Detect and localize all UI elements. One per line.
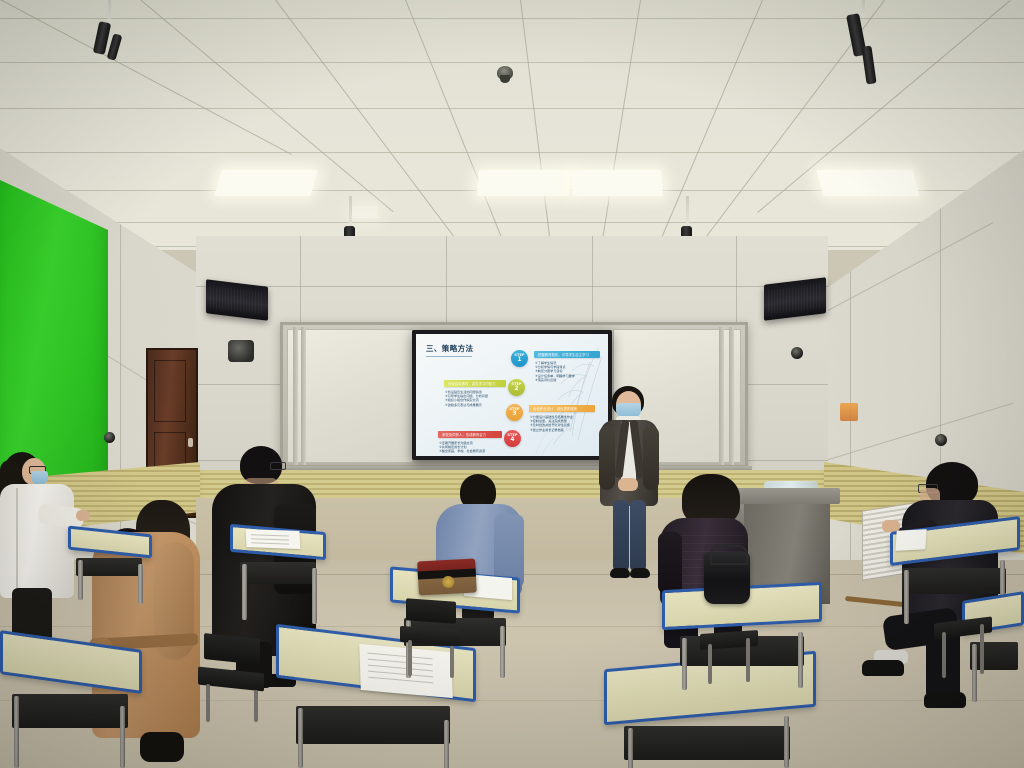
glasses-icon — [270, 462, 286, 470]
dome-camera-icon — [497, 66, 513, 80]
wall-notice-sticker — [840, 403, 858, 421]
ceiling — [0, 0, 1024, 250]
desk-top — [0, 630, 142, 694]
ceiling-mount-rod — [862, 0, 865, 18]
slide-step-2-body: ①创设贴近生活的问题情境 ②引导学生提出问题、分析问题 ③组织小组合作探究交流 … — [445, 390, 507, 407]
slide-step-1-body: ①了解学生情况 ②分析学情与学段特点 ③制定分层学习目标 ④设计任务单，明确学习… — [535, 361, 599, 382]
ptz-camera-left — [228, 340, 254, 362]
slide-step-4-badge: STEP4 — [504, 430, 521, 447]
chair[interactable] — [934, 602, 996, 688]
ceiling-light-panel — [214, 170, 317, 196]
chair[interactable] — [196, 636, 266, 722]
handout-paper[interactable] — [895, 529, 926, 551]
slide-step-1-banner: 把握教育契机，引导学生自主学习 — [534, 351, 600, 358]
slide-step-1-badge: STEP1 — [511, 350, 528, 367]
desk[interactable] — [68, 530, 152, 600]
wall-camera-right-lower — [935, 434, 947, 446]
handbag-black[interactable] — [704, 552, 750, 604]
wall-camera-right — [791, 347, 803, 359]
slide-title: 三、策略方法 — [426, 343, 473, 354]
slide-step-3-body: ①分层设计基础性与拓展性作业 ②控制总量，关注完成质量 ③及时批改并给予针对性反… — [530, 415, 594, 432]
classroom-photo: 三、策略方法 STEP1 把握教育契机，引导学生自主学习 ①了解学生情况 ②分析… — [0, 0, 1024, 768]
slide-step-3-banner: 优化作业设计，减负提质增效 — [529, 405, 595, 412]
handbag-red[interactable] — [417, 559, 477, 596]
desk-top — [68, 526, 152, 559]
slide-step-2-banner: 创设真实情境，激发学习内驱力 — [444, 380, 506, 387]
chair[interactable] — [400, 600, 462, 678]
wall-camera-left — [104, 432, 115, 443]
ceiling-light-panel — [571, 170, 663, 196]
interactive-display[interactable]: 三、策略方法 STEP1 把握教育契机，引导学生自主学习 ①了解学生情况 ②分析… — [412, 330, 612, 460]
bag-handle — [710, 545, 748, 565]
wall-speaker-right — [764, 277, 826, 321]
presentation-slide: 三、策略方法 STEP1 把握教育契机，引导学生自主学习 ①了解学生情况 ②分析… — [416, 334, 608, 456]
ceiling-light-panel — [352, 206, 378, 218]
door-handle[interactable] — [188, 438, 193, 447]
slide-step-4-body: ①定期开展家长沟通交流 ②共同制定成长计划 ③整合家庭、学校、社会教育资源 — [439, 441, 501, 454]
bag-clasp — [442, 576, 455, 589]
slide-step-3-badge: STEP3 — [506, 404, 523, 421]
desk[interactable] — [230, 528, 326, 624]
ceiling-mount-rod — [686, 196, 689, 228]
chair[interactable] — [700, 612, 760, 692]
slide-step-2-badge: STEP2 — [508, 379, 525, 396]
ceiling-light-panel — [817, 170, 920, 196]
handout-paper[interactable] — [246, 529, 301, 549]
ceiling-light-panel — [477, 170, 571, 196]
ceiling-mount-rod — [349, 196, 352, 228]
desk[interactable] — [0, 640, 142, 768]
slide-step-4-banner: 家校协同育人，形成教育合力 — [438, 431, 502, 438]
